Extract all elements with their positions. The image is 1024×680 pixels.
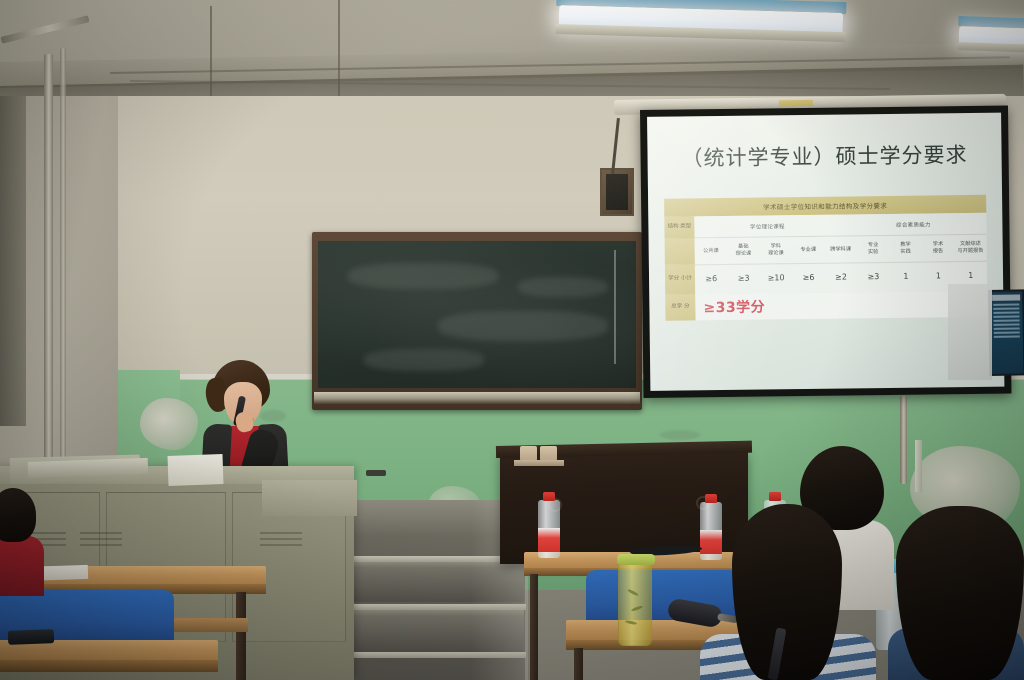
water-bottle-red-cap	[538, 492, 560, 558]
notice-text-line	[994, 323, 1020, 325]
console-vent	[260, 538, 302, 540]
row-label-structure: 结构 类型	[664, 216, 694, 238]
console-vent	[260, 544, 302, 546]
blackboard	[312, 232, 642, 410]
student-front-left-hair	[732, 504, 842, 680]
credit-value: ≥10	[760, 273, 793, 284]
notice-board-header	[992, 294, 1020, 300]
chalk-tray	[314, 392, 640, 404]
table-header-row: 公共课 基础 理论课 学科 理论课 专业课 跨学科课 专业 实验 教学 实践 学…	[665, 235, 987, 265]
pen-on-console	[366, 470, 386, 476]
chalk-smear	[518, 277, 608, 297]
student-front-right-hair	[896, 506, 1024, 680]
column-header: 专业课	[792, 246, 825, 253]
credit-value: ≥6	[695, 274, 728, 285]
wall-pipe-vertical	[900, 396, 907, 484]
total-credits-value: ≥33学分	[703, 296, 765, 317]
paper-stack-on-console	[167, 454, 223, 486]
credit-value: ≥3	[857, 272, 890, 283]
wall-scuff	[660, 430, 700, 440]
table-total-row: 总学 分 ≥33学分	[665, 291, 987, 321]
thermos-cap	[617, 554, 655, 565]
column-header: 公共课	[695, 248, 728, 255]
group-header-theory: 学位理论课程	[750, 222, 785, 230]
tea-leaf	[627, 588, 639, 596]
console-vent	[80, 532, 122, 534]
column-header-cells: 公共课 基础 理论课 学科 理论课 专业课 跨学科课 专业 实验 教学 实践 学…	[695, 235, 987, 265]
chalk-smear	[438, 311, 608, 341]
column-header: 文献综述 与开题报告	[954, 241, 987, 255]
notice-text-line	[993, 315, 1019, 317]
smartphone-on-desk	[8, 629, 54, 645]
console-vent	[80, 538, 122, 540]
credit-value: 1	[890, 272, 923, 283]
tea-leaf	[625, 620, 637, 625]
credit-value-cells: ≥6 ≥3 ≥10 ≥6 ≥2 ≥3 1 1 1	[695, 261, 987, 295]
notice-text-line	[994, 331, 1020, 333]
credit-value: ≥2	[825, 273, 858, 284]
console-right-section	[262, 480, 357, 516]
water-bottle-red-cap	[700, 494, 722, 560]
slide-title: （统计学专业）硕士学分要求	[647, 139, 1001, 173]
tea-thermos-yellow	[618, 562, 652, 646]
column-header: 教学 实践	[889, 242, 922, 256]
wall-pipe-vertical	[60, 48, 66, 508]
notice-board-wall-panel	[948, 284, 992, 380]
row-label-subtotal: 学分 小计	[665, 264, 695, 294]
blackboard-divider	[614, 250, 616, 364]
student-far-left-red-shirt	[0, 536, 44, 596]
wall-notice-board	[988, 289, 1024, 376]
notice-board-inner	[990, 291, 1023, 374]
fluorescent-light-top-right	[957, 16, 1024, 54]
bottle-label	[538, 528, 560, 552]
bottle-cap	[705, 494, 717, 503]
row-label-total: 总学 分	[665, 294, 695, 320]
desk-leg	[236, 592, 246, 680]
notice-text-line	[994, 327, 1020, 329]
blackboard-surface	[318, 241, 636, 388]
credit-value: ≥3	[727, 274, 760, 285]
column-header: 基础 理论课	[727, 244, 760, 258]
column-header: 跨学科课	[824, 246, 857, 253]
credit-value: ≥6	[792, 273, 825, 284]
chalk-smear	[364, 349, 484, 371]
desk-edge	[0, 660, 218, 672]
console-vent	[260, 532, 302, 534]
wall-conduit	[915, 440, 922, 492]
console-vent	[80, 544, 122, 546]
column-header: 学科 理论课	[760, 243, 793, 257]
notice-text-line	[993, 303, 1019, 305]
classroom-photo: （统计学专业）硕士学分要求 学术硕士学位知识和能力结构及学分要求 结构 类型 学…	[0, 0, 1024, 680]
notice-text-line	[993, 307, 1019, 309]
slide-credits-table: 学术硕士学位知识和能力结构及学分要求 结构 类型 学位理论课程 综合素质能力 公…	[664, 195, 987, 321]
left-wall-shadow	[0, 96, 26, 426]
wall-speaker	[600, 168, 634, 216]
row-label-spacer	[665, 238, 695, 264]
paper-cup-tray	[514, 460, 564, 466]
bottle-cap	[769, 492, 781, 501]
column-header: 专业 实验	[857, 242, 890, 256]
chalk-smear	[348, 263, 498, 289]
group-header-ability: 综合素质能力	[896, 220, 931, 228]
total-cell: ≥33学分	[695, 291, 987, 321]
roller-label-tag	[779, 100, 813, 107]
bottle-label	[700, 530, 722, 554]
bottle-cap	[543, 492, 555, 501]
notice-text-line	[993, 311, 1019, 313]
notice-text-line	[994, 335, 1020, 337]
wall-pipe-vertical	[44, 54, 53, 524]
column-header: 学术 报告	[922, 241, 955, 255]
desk-leg	[574, 648, 583, 680]
desk-leg	[530, 574, 538, 680]
credit-value: 1	[954, 271, 987, 282]
table-credits-row: 学分 小计 ≥6 ≥3 ≥10 ≥6 ≥2 ≥3 1 1 1	[665, 261, 987, 295]
credit-value: 1	[922, 271, 955, 282]
notice-text-line	[994, 319, 1020, 321]
tea-leaf	[631, 605, 643, 612]
speaker-grill	[606, 174, 628, 210]
